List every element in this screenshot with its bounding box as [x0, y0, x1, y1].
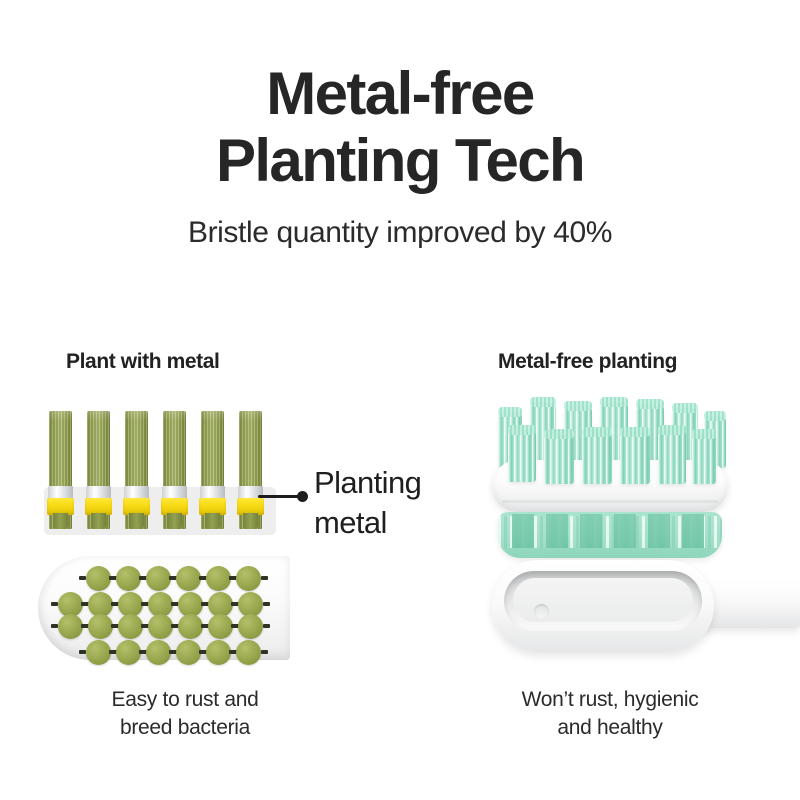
- metal-bristle-tuft: [238, 411, 263, 529]
- bristle-tuft-dot: [116, 640, 141, 665]
- mint-bristle-tuft: [658, 430, 686, 484]
- callout-leader-line: [258, 495, 302, 498]
- bristle-pillar: [614, 514, 636, 548]
- page-title: Metal-free Planting Tech: [0, 60, 800, 194]
- bristle-foot: [167, 513, 182, 529]
- bristle-tuft-dot: [238, 614, 263, 639]
- bristle-tuft-dot: [176, 640, 201, 665]
- headline-line-2: Planting Tech: [0, 127, 800, 194]
- bristle-foot: [205, 513, 220, 529]
- bristle-tuft-dot: [86, 640, 111, 665]
- callout-line-1: Planting: [314, 463, 421, 503]
- metal-bristle-tuft: [124, 411, 149, 529]
- bristle-tuft-dot: [208, 614, 233, 639]
- bristle-tuft-dot: [236, 640, 261, 665]
- metal-free-brush-head: [478, 386, 740, 562]
- bristle-foot: [91, 513, 106, 529]
- bristle-tuft-dot: [206, 566, 231, 591]
- planting-metal-callout: Planting metal: [314, 463, 421, 544]
- bristle-foot: [53, 513, 68, 529]
- headline-line-1: Metal-free: [0, 60, 800, 127]
- bristle-pillar: [512, 514, 534, 548]
- brush-base-basin: [504, 571, 702, 631]
- bristle-tuft-dot: [146, 640, 171, 665]
- bristle-pillar: [648, 514, 670, 548]
- mint-bristle-tuft: [508, 430, 536, 482]
- right-column-label: Metal-free planting: [498, 350, 677, 374]
- metal-bristle-tuft: [48, 411, 73, 529]
- bristle-tuft-dot: [146, 566, 171, 591]
- metal-bristle-tuft: [162, 411, 187, 529]
- left-caption-line-2: breed bacteria: [35, 714, 335, 742]
- bristle-tuft-dot: [206, 640, 231, 665]
- mint-bristle-tuft: [620, 432, 650, 484]
- callout-line-2: metal: [314, 503, 421, 543]
- metal-free-brush-base: [492, 560, 740, 652]
- metal-brush-head-top-view: [38, 556, 290, 660]
- metal-bristle-tuft: [200, 411, 225, 529]
- left-caption-line-1: Easy to rust and: [35, 686, 335, 714]
- metal-planting-cross-section: [44, 405, 276, 535]
- bristle-foot: [243, 513, 258, 529]
- mint-bristle-tuft: [544, 434, 574, 484]
- mint-bristle-tuft: [692, 434, 716, 484]
- infographic-page: Metal-free Planting Tech Bristle quantit…: [0, 0, 800, 800]
- left-column-label: Plant with metal: [66, 350, 219, 374]
- bristle-pillar: [580, 514, 602, 548]
- bristle-foot: [129, 513, 144, 529]
- bristle-tuft-dot: [178, 614, 203, 639]
- right-caption-line-1: Won’t rust, hygienic: [460, 686, 760, 714]
- page-subtitle: Bristle quantity improved by 40%: [0, 216, 800, 250]
- bristle-tuft-dot: [86, 566, 111, 591]
- bristle-tuft-dot: [88, 614, 113, 639]
- callout-leader-dot: [297, 491, 308, 502]
- right-caption: Won’t rust, hygienic and healthy: [460, 686, 760, 741]
- right-caption-line-2: and healthy: [460, 714, 760, 742]
- bristle-tuft-dot: [148, 614, 173, 639]
- bristle-tuft-dot: [236, 566, 261, 591]
- bristle-tuft-dot: [58, 614, 83, 639]
- metal-bristle-tuft: [86, 411, 111, 529]
- moulding-dimple: [534, 604, 549, 619]
- brush-head-underside-cutaway: [498, 512, 722, 558]
- left-caption: Easy to rust and breed bacteria: [35, 686, 335, 741]
- mint-bristle-tuft: [582, 432, 612, 484]
- bristle-pillar: [546, 514, 568, 548]
- bristle-tuft-dot: [116, 566, 141, 591]
- bristle-pillar: [682, 514, 704, 548]
- bristle-tuft-dot: [118, 614, 143, 639]
- bristle-tuft-dot: [176, 566, 201, 591]
- header: Metal-free Planting Tech Bristle quantit…: [0, 60, 800, 250]
